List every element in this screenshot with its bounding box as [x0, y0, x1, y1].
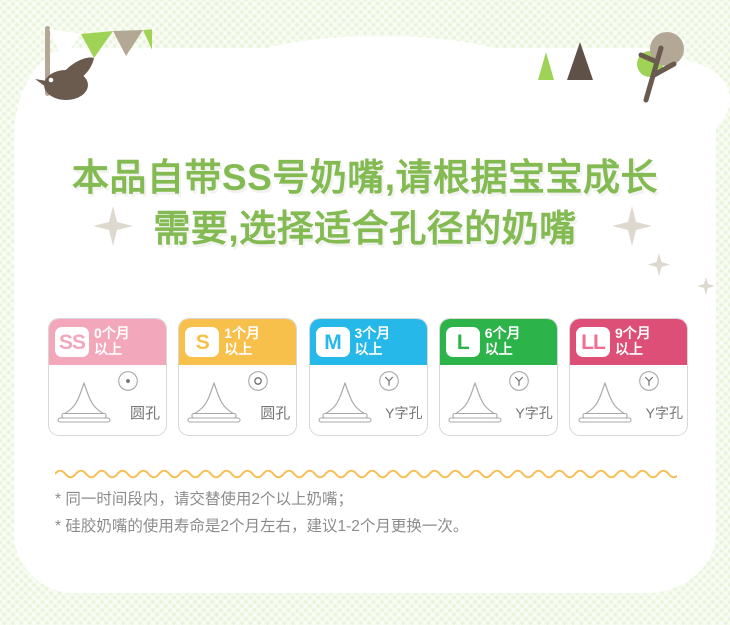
card-header: LL9个月以上: [570, 319, 687, 365]
footnote-list: * 同一时间段内，请交替使用2个以上奶嘴；* 硅胶奶嘴的使用寿命是2个月左右，建…: [55, 487, 695, 540]
size-badge: L: [446, 327, 480, 357]
bird-icon: [35, 58, 94, 100]
card-body: 圆孔: [179, 365, 296, 435]
age-line-1: 9个月: [615, 326, 682, 342]
triangle-tree-green-icon: [538, 52, 554, 80]
hole-type-label: Y字孔: [385, 403, 422, 423]
footnote-item: * 同一时间段内，请交替使用2个以上奶嘴；: [55, 487, 695, 514]
age-line-1: 3个月: [355, 326, 422, 342]
age-line-2: 以上: [485, 342, 552, 358]
nipple-size-card[interactable]: LL9个月以上Y字孔: [569, 318, 688, 436]
y-hole-icon: [508, 370, 530, 397]
card-header: S1个月以上: [179, 319, 296, 365]
y-hole-icon: [638, 370, 660, 397]
age-line-2: 以上: [94, 342, 161, 358]
nipple-size-card[interactable]: S1个月以上圆孔: [178, 318, 297, 436]
age-line-1: 1个月: [224, 326, 291, 342]
size-badge: SS: [55, 327, 89, 357]
nipple-size-card[interactable]: SS0个月以上圆孔: [48, 318, 167, 436]
nipple-size-card[interactable]: L6个月以上Y字孔: [439, 318, 558, 436]
panel-edge-bump-top-center: [230, 36, 530, 106]
age-line-2: 以上: [615, 342, 682, 358]
card-header: M3个月以上: [310, 319, 427, 365]
card-body: Y字孔: [570, 365, 687, 435]
round-tree-icon: [637, 32, 684, 100]
hole-type-label: Y字孔: [646, 403, 683, 423]
age-line-1: 0个月: [94, 326, 161, 342]
triangle-tree-brown-icon: [567, 42, 593, 80]
card-body: 圆孔: [49, 365, 166, 435]
card-body: Y字孔: [310, 365, 427, 435]
card-body: Y字孔: [440, 365, 557, 435]
nipple-icon: [317, 380, 373, 429]
age-label: 3个月以上: [355, 326, 422, 357]
age-line-2: 以上: [224, 342, 291, 358]
nipple-size-card-row: SS0个月以上圆孔S1个月以上圆孔M3个月以上Y字孔L6个月以上Y字孔LL9个月…: [48, 318, 688, 436]
age-line-2: 以上: [355, 342, 422, 358]
nipple-icon: [577, 380, 633, 429]
wavy-divider: [55, 466, 677, 478]
hole-type-label: Y字孔: [515, 403, 552, 423]
age-label: 1个月以上: [224, 326, 291, 357]
age-label: 0个月以上: [94, 326, 161, 357]
card-header: L6个月以上: [440, 319, 557, 365]
nipple-icon: [56, 380, 112, 429]
footnote-item: * 硅胶奶嘴的使用寿命是2个月左右，建议1-2个月更换一次。: [55, 514, 695, 541]
round-hole-small-icon: [117, 370, 139, 397]
age-label: 6个月以上: [485, 326, 552, 357]
size-badge: M: [316, 327, 350, 357]
nipple-icon: [447, 380, 503, 429]
decoration-left-group: [22, 8, 152, 118]
nipple-icon: [186, 380, 242, 429]
page-title-line-2: 需要,选择适合孔径的奶嘴: [0, 203, 730, 254]
hole-type-label: 圆孔: [260, 402, 290, 423]
card-header: SS0个月以上: [49, 319, 166, 365]
page-title-line-1: 本品自带SS号奶嘴,请根据宝宝成长: [72, 157, 658, 198]
size-badge: S: [185, 327, 219, 357]
y-hole-icon: [378, 370, 400, 397]
nipple-size-card[interactable]: M3个月以上Y字孔: [309, 318, 428, 436]
age-label: 9个月以上: [615, 326, 682, 357]
size-badge: LL: [576, 327, 610, 357]
hole-type-label: 圆孔: [130, 402, 160, 423]
age-line-1: 6个月: [485, 326, 552, 342]
round-hole-medium-icon: [247, 370, 269, 397]
decoration-right-group: [530, 22, 710, 117]
page-title: 本品自带SS号奶嘴,请根据宝宝成长 需要,选择适合孔径的奶嘴: [0, 152, 730, 254]
